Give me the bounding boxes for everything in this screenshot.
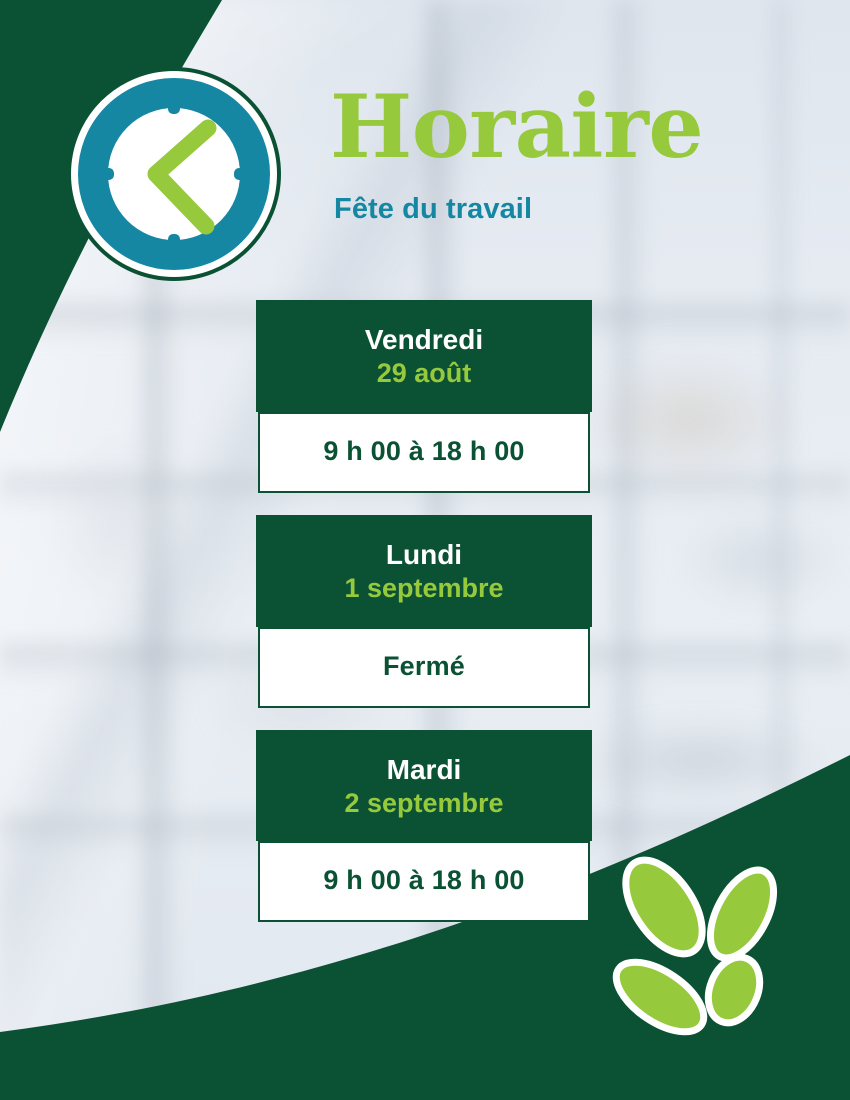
schedule-card-body: Fermé (258, 627, 590, 708)
poster-header: Horaire Fête du travail (330, 84, 800, 226)
schedule-card-body: 9 h 00 à 18 h 00 (258, 412, 590, 493)
schedule-hours-label: 9 h 00 à 18 h 00 (268, 865, 580, 896)
schedule-card-header: Lundi 1 septembre (256, 515, 592, 627)
schedule-day-label: Vendredi (266, 324, 582, 355)
schedule-date-label: 29 août (266, 357, 582, 389)
page-subtitle: Fête du travail (334, 193, 800, 226)
page-title: Horaire (330, 84, 800, 169)
petal-lower-right (699, 949, 769, 1030)
petal-upper-left (612, 852, 718, 967)
schedule-date-label: 2 septembre (266, 787, 582, 819)
clock-icon (66, 66, 282, 282)
schedule-date-label: 1 septembre (266, 572, 582, 604)
schedule-card-header: Mardi 2 septembre (256, 730, 592, 842)
schedule-hours-label: Fermé (268, 651, 580, 682)
schedule-day-label: Mardi (266, 754, 582, 785)
schedule-day-label: Lundi (266, 539, 582, 570)
butterfly-petals (612, 852, 787, 1046)
schedule-card: Vendredi 29 août 9 h 00 à 18 h 00 (256, 300, 592, 493)
schedule-poster: Horaire Fête du travail Vendredi 29 août… (0, 0, 850, 1100)
petal-lower-left (612, 948, 715, 1045)
schedule-list: Vendredi 29 août 9 h 00 à 18 h 00 Lundi … (256, 300, 592, 922)
butterfly-logo (612, 852, 797, 1052)
schedule-card: Mardi 2 septembre 9 h 00 à 18 h 00 (256, 730, 592, 923)
schedule-card: Lundi 1 septembre Fermé (256, 515, 592, 708)
schedule-card-body: 9 h 00 à 18 h 00 (258, 841, 590, 922)
schedule-card-header: Vendredi 29 août (256, 300, 592, 412)
petal-upper-right (697, 860, 786, 968)
schedule-hours-label: 9 h 00 à 18 h 00 (268, 436, 580, 467)
